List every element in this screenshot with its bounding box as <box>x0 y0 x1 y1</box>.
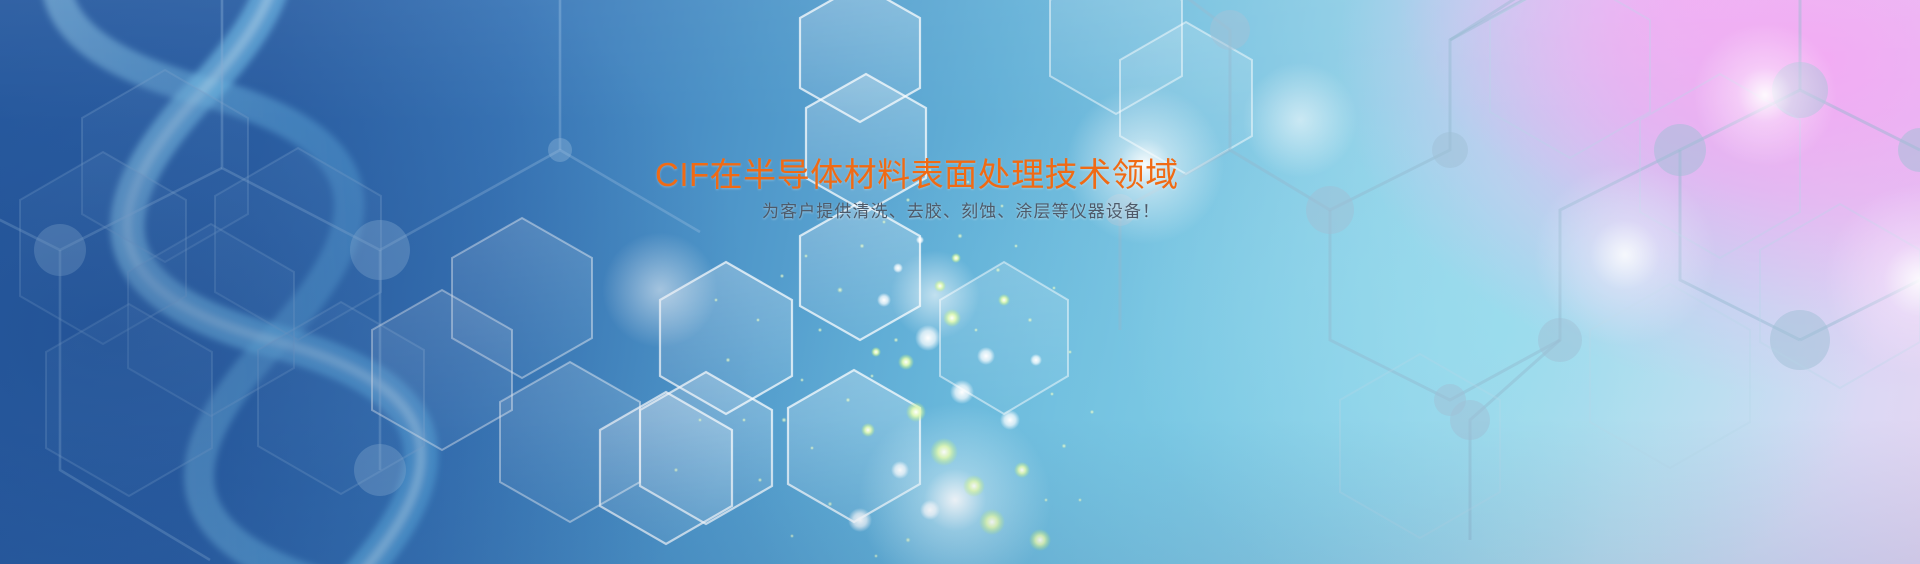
hero-banner: CIF在半导体材料表面处理技术领域 为客户提供清洗、去胶、刻蚀、涂层等仪器设备！ <box>0 0 1920 564</box>
banner-title: CIF在半导体材料表面处理技术领域 <box>655 155 1179 195</box>
banner-subtitle: 为客户提供清洗、去胶、刻蚀、涂层等仪器设备！ <box>762 199 1160 225</box>
banner-copy: CIF在半导体材料表面处理技术领域 为客户提供清洗、去胶、刻蚀、涂层等仪器设备！ <box>0 0 1920 564</box>
